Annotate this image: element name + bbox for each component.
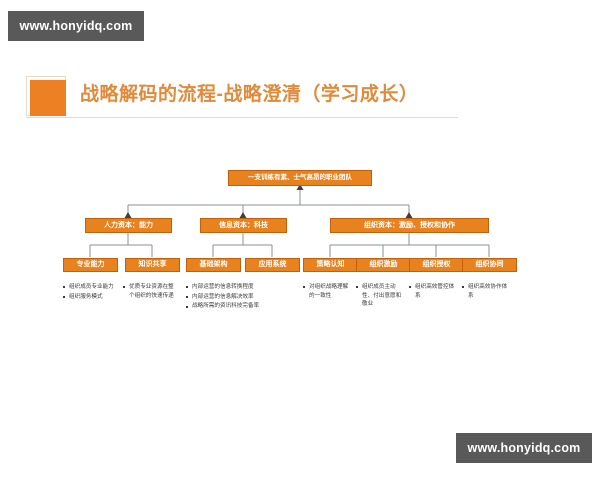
bullet-group-knowledge-sharing: 优质专业资源在整个组织的快速传递: [123, 283, 178, 301]
bullet-item: 对组织战略理解的一致性: [303, 283, 351, 300]
bullet-item: 优质专业资源在整个组织的快速传递: [123, 283, 178, 300]
node-level3-organization-empowerment[interactable]: 组织授权: [409, 258, 464, 272]
bullet-group-professional-capability: 组织成员专业能力组织服务模式: [63, 283, 118, 302]
connector-lines: [0, 0, 600, 480]
node-root[interactable]: 一支训练有素、士气高昂的职业团队: [228, 170, 372, 186]
node-level3-organization-collaboration[interactable]: 组织协同: [462, 258, 517, 272]
bullet-item: 战略所需的资讯科技完备率: [186, 302, 294, 311]
node-level3-knowledge-sharing[interactable]: 知识共享: [125, 258, 180, 272]
node-level2-organization-capital[interactable]: 组织资本：激励、授权和协作: [330, 218, 489, 233]
bullet-group-information-capital: 内部运营的信息转换程度内部运营的信息解决效率战略所需的资讯科技完备率: [186, 283, 294, 312]
node-level3-organization-incentive[interactable]: 组织激励: [356, 258, 411, 272]
watermark-bottom: www.honyidq.com: [456, 433, 592, 463]
strategy-map-diagram: 一支训练有素、士气高昂的职业团队 人力资本：能力 信息资本：科技 组织资本：激励…: [0, 0, 600, 480]
bullet-item: 组织服务模式: [63, 293, 118, 302]
node-level3-strategy-awareness[interactable]: 策略认知: [303, 258, 358, 272]
bullet-item: 内部运营的信息解决效率: [186, 293, 294, 302]
bullet-group-organization-collaboration: 组织高效协作体系: [462, 283, 510, 301]
node-level3-infrastructure[interactable]: 基础架构: [186, 258, 241, 272]
node-level2-human-capital[interactable]: 人力资本：能力: [85, 218, 172, 233]
bullet-group-strategy-awareness: 对组织战略理解的一致性: [303, 283, 351, 301]
bullet-item: 组织高效管控体系: [409, 283, 457, 300]
bullet-group-organization-empowerment: 组织高效管控体系: [409, 283, 457, 301]
bullet-item: 组织成员主动性、付出意愿和敬业: [356, 283, 406, 309]
node-level2-information-capital[interactable]: 信息资本：科技: [200, 218, 287, 233]
node-level3-professional-capability[interactable]: 专业能力: [63, 258, 118, 272]
bullet-group-organization-incentive: 组织成员主动性、付出意愿和敬业: [356, 283, 406, 310]
node-level3-application-system[interactable]: 应用系统: [245, 258, 300, 272]
bullet-item: 组织高效协作体系: [462, 283, 510, 300]
bullet-item: 内部运营的信息转换程度: [186, 283, 294, 292]
bullet-item: 组织成员专业能力: [63, 283, 118, 292]
